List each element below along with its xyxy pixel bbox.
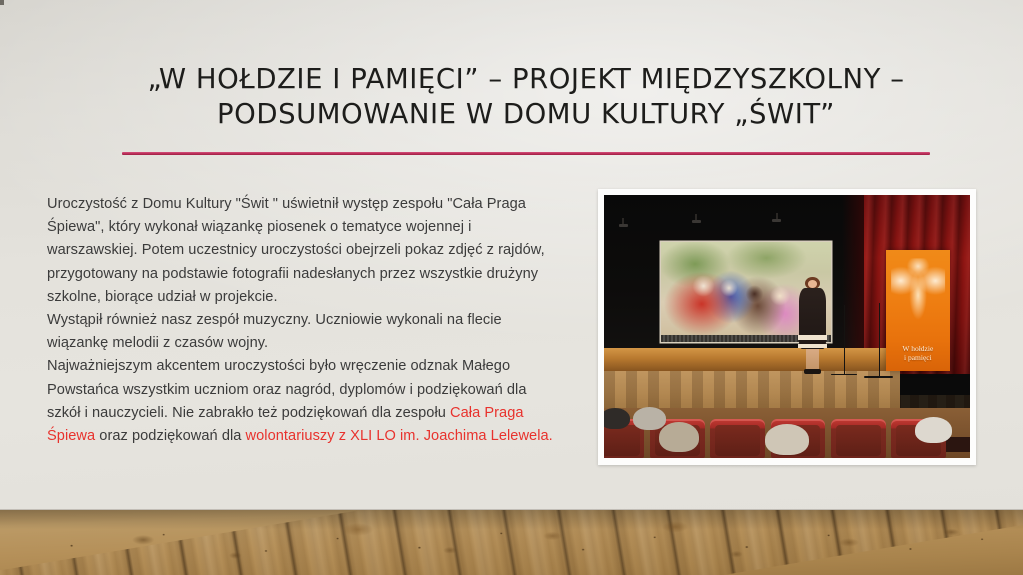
- audience-head: [765, 424, 809, 455]
- highlight-volunteers: wolontariuszy z XLI LO im. Joachima Lele…: [246, 428, 553, 444]
- ceiling-lamp-icon: [772, 219, 781, 222]
- title-divider: [122, 152, 930, 155]
- body-paragraph-3-mid: oraz podziękowań dla: [95, 428, 245, 444]
- audience-head: [604, 408, 630, 429]
- stage-photo-frame: W hołdzie i pamięci: [598, 189, 976, 465]
- eagle-emblem-icon: [891, 259, 945, 324]
- audience-seat: [831, 419, 886, 458]
- banner-text: W hołdzie i pamięci: [886, 344, 950, 363]
- page-title: „W HOŁDZIE I PAMIĘCI” – PROJEKT MIĘDZYSZ…: [122, 62, 930, 132]
- ceiling-lamp-icon: [692, 220, 701, 223]
- presentation-slide: „W HOŁDZIE I PAMIĘCI” – PROJEKT MIĘDZYSZ…: [0, 0, 1023, 575]
- body-paragraph-1: Uroczystość z Domu Kultury "Świt " uświe…: [47, 193, 559, 309]
- audience-head: [915, 417, 952, 443]
- stage-front-panel: [604, 371, 900, 410]
- performer-singer: [796, 277, 829, 374]
- microphone-stand: [844, 305, 845, 373]
- performer-shoes: [804, 369, 821, 374]
- stage-floor: [604, 348, 889, 374]
- performer-dress-trim: [798, 344, 828, 348]
- microphone-stand-base: [864, 376, 893, 378]
- wood-floor-decoration: [0, 510, 1023, 575]
- audience-seat: [710, 419, 765, 458]
- audience-area: [604, 408, 970, 458]
- slide-title-block: „W HOŁDZIE I PAMIĘCI” – PROJEKT MIĘDZYSZ…: [122, 62, 930, 132]
- roll-up-banner: W hołdzie i pamięci: [886, 250, 950, 371]
- performer-legs: [806, 349, 819, 370]
- wood-knots: [0, 510, 1023, 575]
- corner-mark: [0, 0, 4, 5]
- stage-photo: W hołdzie i pamięci: [604, 195, 970, 458]
- performer-dress-trim: [798, 335, 827, 340]
- microphone-stand: [879, 303, 880, 377]
- audience-head: [633, 407, 666, 430]
- body-paragraph-2: Wystąpił również nasz zespół muzyczny. U…: [47, 309, 559, 355]
- audience-head: [659, 422, 699, 452]
- ceiling-lamp-icon: [619, 224, 628, 227]
- slide-body-text: Uroczystość z Domu Kultury "Świt " uświe…: [47, 193, 559, 448]
- body-paragraph-3: Najważniejszym akcentem uroczystości był…: [47, 355, 559, 448]
